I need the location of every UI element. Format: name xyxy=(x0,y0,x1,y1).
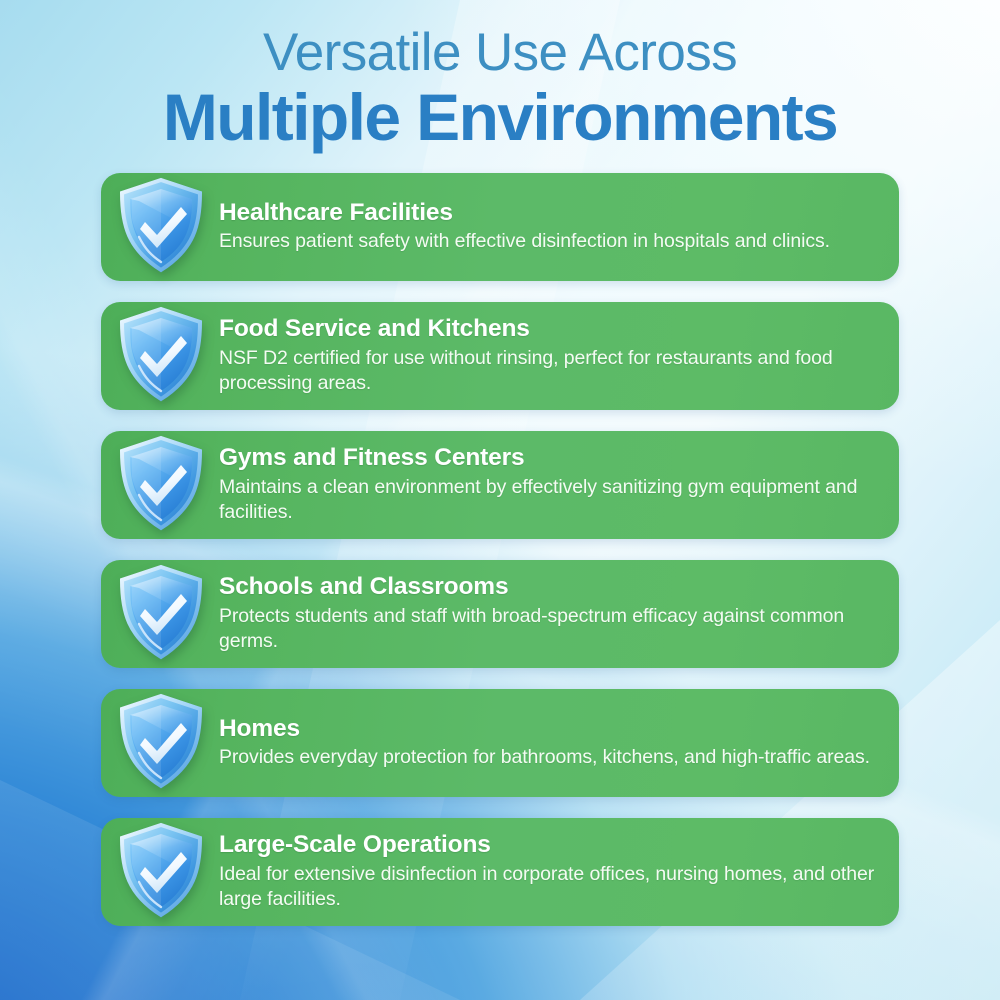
environment-card-title: Healthcare Facilities xyxy=(219,199,883,226)
environment-card-title: Schools and Classrooms xyxy=(219,573,883,600)
shield-check-icon xyxy=(115,564,207,660)
environment-card-description: Maintains a clean environment by effecti… xyxy=(219,475,883,525)
environment-card-text: Healthcare Facilities Ensures patient sa… xyxy=(207,199,899,256)
page-title-line-1: Versatile Use Across xyxy=(0,26,1000,80)
environment-card: Homes Provides everyday protection for b… xyxy=(101,689,899,797)
environment-card: Gyms and Fitness Centers Maintains a cle… xyxy=(101,431,899,539)
shield-check-icon xyxy=(115,177,207,273)
environment-card: Schools and Classrooms Protects students… xyxy=(101,560,899,668)
shield-check-icon xyxy=(115,435,207,531)
environment-card-description: Ideal for extensive disinfection in corp… xyxy=(219,862,883,912)
environment-card-description: Protects students and staff with broad-s… xyxy=(219,604,883,654)
infographic-poster: Versatile Use Across Multiple Environmen… xyxy=(0,0,1000,1000)
page-title-line-2: Multiple Environments xyxy=(0,84,1000,151)
environment-card-description: Ensures patient safety with effective di… xyxy=(219,229,883,254)
environment-card-description: NSF D2 certified for use without rinsing… xyxy=(219,346,883,396)
environment-card: Healthcare Facilities Ensures patient sa… xyxy=(101,173,899,281)
shield-check-icon xyxy=(115,693,207,789)
environment-card-text: Gyms and Fitness Centers Maintains a cle… xyxy=(207,444,899,526)
page-title: Versatile Use Across Multiple Environmen… xyxy=(0,0,1000,151)
environment-card-description: Provides everyday protection for bathroo… xyxy=(219,745,883,770)
environment-card-title: Food Service and Kitchens xyxy=(219,315,883,342)
environment-card-text: Large-Scale Operations Ideal for extensi… xyxy=(207,831,899,913)
environment-card: Food Service and Kitchens NSF D2 certifi… xyxy=(101,302,899,410)
environment-card-text: Homes Provides everyday protection for b… xyxy=(207,715,899,772)
environment-card-title: Homes xyxy=(219,715,883,742)
environment-card-title: Large-Scale Operations xyxy=(219,831,883,858)
environment-card-text: Schools and Classrooms Protects students… xyxy=(207,573,899,655)
environment-card-title: Gyms and Fitness Centers xyxy=(219,444,883,471)
environment-card: Large-Scale Operations Ideal for extensi… xyxy=(101,818,899,926)
environment-card-list: Healthcare Facilities Ensures patient sa… xyxy=(101,173,899,926)
shield-check-icon xyxy=(115,822,207,918)
shield-check-icon xyxy=(115,306,207,402)
environment-card-text: Food Service and Kitchens NSF D2 certifi… xyxy=(207,315,899,397)
